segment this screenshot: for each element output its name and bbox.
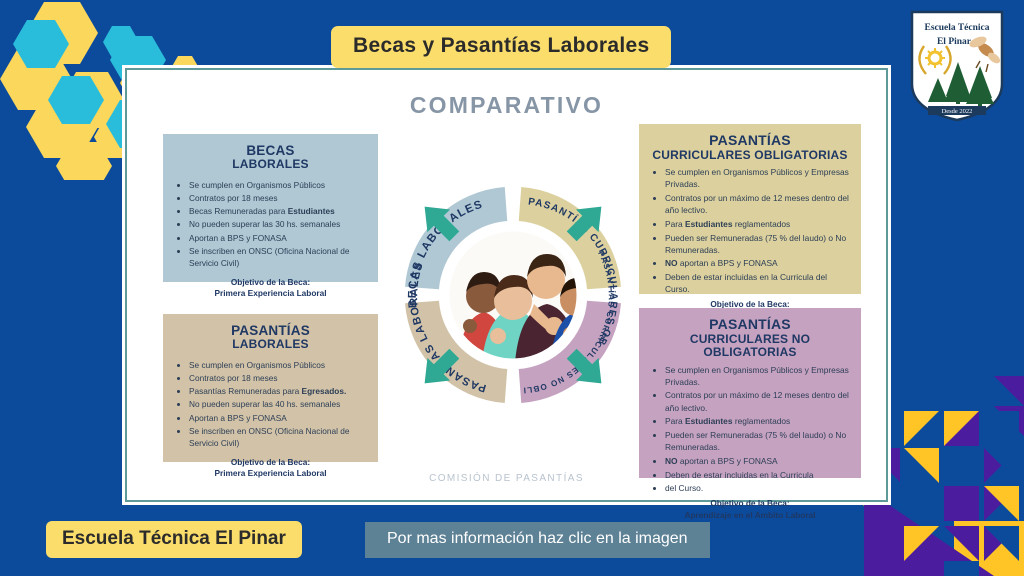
list-item: Se inscriben en ONSC (Oficina Nacional d… <box>189 426 366 450</box>
panel-curriculares-obligatorias-heading: PASANTÍAS CURRICULARES OBLIGATORIAS <box>651 133 849 162</box>
list-item: No pueden superar las 30 hs. semanales <box>189 219 366 231</box>
list-item: Pasantías Remuneradas para Egresados. <box>189 386 366 398</box>
crest-line2: El Pinar <box>937 37 972 47</box>
list-item: Aportan a BPS y FONASA <box>189 413 366 425</box>
list-item: Se cumplen en Organismos Públicos <box>189 360 366 372</box>
panel-pasantias-laborales-list: Se cumplen en Organismos PúblicosContrat… <box>179 360 366 450</box>
card-footnote: COMISIÓN DE PASANTÍAS <box>127 473 886 484</box>
panel-pasantias-laborales: PASANTÍAS LABORALES Se cumplen en Organi… <box>163 314 378 462</box>
list-item: Pueden ser Remuneradas (75 % del laudo) … <box>665 429 849 453</box>
list-item: No pueden superar las 40 hs. semanales <box>189 399 366 411</box>
crest-founded: Desde 2022 <box>942 108 973 115</box>
list-item: Para Estudiantes reglamentados <box>665 218 849 230</box>
panel-becas-list: Se cumplen en Organismos PúblicosContrat… <box>179 180 366 270</box>
list-item: NO aportan a BPS y FONASA <box>665 257 849 269</box>
list-item: Se cumplen en Organismos Públicos y Empr… <box>665 364 849 388</box>
list-item: Becas Remuneradas para Estudiantes <box>189 206 366 218</box>
list-item: del Curso. <box>665 482 849 494</box>
list-item: Contratos por un máximo de 12 meses dent… <box>665 389 849 413</box>
panel-curriculares-obligatorias-list: Se cumplen en Organismos Públicos y Empr… <box>655 166 849 295</box>
list-item: Contratos por 18 meses <box>189 193 366 205</box>
list-item: Aportan a BPS y FONASA <box>189 233 366 245</box>
list-item: Contratos por 18 meses <box>189 373 366 385</box>
card-title: COMPARATIVO <box>127 92 886 119</box>
panel-pasantias-laborales-heading: PASANTÍAS LABORALES <box>175 323 366 352</box>
page-title: Becas y Pasantías Laborales <box>331 26 671 68</box>
comparison-card: COMPARATIVO BECAS LABORALES Se cumplen e… <box>125 68 888 502</box>
panel-curriculares-no-obligatorias: PASANTÍAS CURRICULARES NO OBLIGATORIAS S… <box>639 308 861 478</box>
panel-curriculares-no-obligatorias-heading: PASANTÍAS CURRICULARES NO OBLIGATORIAS <box>651 317 849 360</box>
panel-curriculares-no-obligatorias-goal: Objetivo de la Beca: Aprendizaje en el A… <box>651 498 849 520</box>
footer-school-label: Escuela Técnica El Pinar <box>46 521 302 558</box>
panel-becas-heading: BECAS LABORALES <box>175 143 366 172</box>
school-crest-logo: Escuela Técnica El Pinar Desde 2022 <box>902 6 1012 124</box>
comparison-wheel-diagram: BECAS LABORALES PASANTÍAS CURRICULARES O… <box>384 166 642 424</box>
panel-curriculares-obligatorias: PASANTÍAS CURRICULARES OBLIGATORIAS Se c… <box>639 124 861 294</box>
list-item: NO aportan a BPS y FONASA <box>665 455 849 467</box>
list-item: Se cumplen en Organismos Públicos <box>189 180 366 192</box>
list-item: Pueden ser Remuneradas (75 % del laudo) … <box>665 232 849 256</box>
crest-line1: Escuela Técnica <box>924 23 989 33</box>
list-item: Se cumplen en Organismos Públicos y Empr… <box>665 166 849 190</box>
panel-becas-laborales: BECAS LABORALES Se cumplen en Organismos… <box>163 134 378 282</box>
panel-becas-goal: Objetivo de la Beca: Primera Experiencia… <box>175 277 366 299</box>
list-item: Deben de estar incluidas en la Curricula… <box>665 271 849 295</box>
list-item: Para Estudiantes reglamentados <box>665 415 849 427</box>
list-item: Se inscriben en ONSC (Oficina Nacional d… <box>189 246 366 270</box>
list-item: Contratos por un máximo de 12 meses dent… <box>665 192 849 216</box>
footer-call-to-action[interactable]: Por mas información haz clic en la image… <box>365 522 710 558</box>
